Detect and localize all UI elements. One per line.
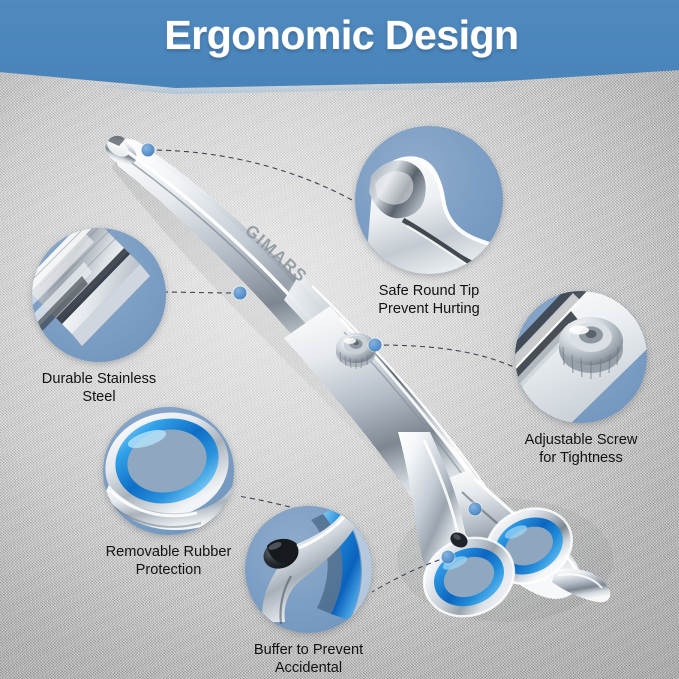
brushed-steel-blade-icon — [32, 228, 166, 362]
callout-disc-adjustable-screw — [515, 291, 647, 423]
callout-durable-stainless-steel: Durable Stainless Steel — [32, 228, 166, 362]
callout-disc-safe-round-tip — [355, 126, 503, 274]
pivot-screw-icon — [515, 291, 647, 423]
callout-label-buffer: Buffer to Prevent Accidental Clapping — [245, 641, 372, 679]
callout-disc-durable-steel — [32, 228, 166, 362]
callout-disc-buffer — [245, 506, 372, 633]
anchor-dot-durable-steel — [234, 287, 247, 300]
anchor-dot-buffer — [442, 551, 455, 564]
callout-label-adjustable-screw: Adjustable Screw for Tightness — [515, 431, 647, 467]
callout-label-safe-round-tip: Safe Round Tip Prevent Hurting — [355, 282, 503, 318]
anchor-dot-rubber-ring — [469, 503, 482, 516]
black-rubber-buffer-icon — [245, 506, 372, 633]
callout-buffer-accidental-clapping: Buffer to Prevent Accidental Clapping — [245, 506, 372, 633]
product-feature-infographic: GIMARS — [0, 0, 679, 679]
rounded-blade-tip-icon — [355, 126, 503, 274]
blue-rubber-ring-icon — [103, 407, 234, 535]
callout-label-rubber-protection: Removable Rubber Protection — [103, 543, 234, 579]
callout-disc-rubber-ring — [103, 407, 234, 535]
callout-adjustable-screw: Adjustable Screw for Tightness — [515, 291, 647, 423]
callout-label-durable-steel: Durable Stainless Steel — [32, 370, 166, 406]
anchor-dot-adjustable-screw — [369, 339, 382, 352]
callout-removable-rubber-protection: Removable Rubber Protection — [103, 407, 234, 535]
callout-safe-round-tip: Safe Round Tip Prevent Hurting — [355, 126, 503, 274]
anchor-dot-safe-round-tip — [142, 144, 155, 157]
